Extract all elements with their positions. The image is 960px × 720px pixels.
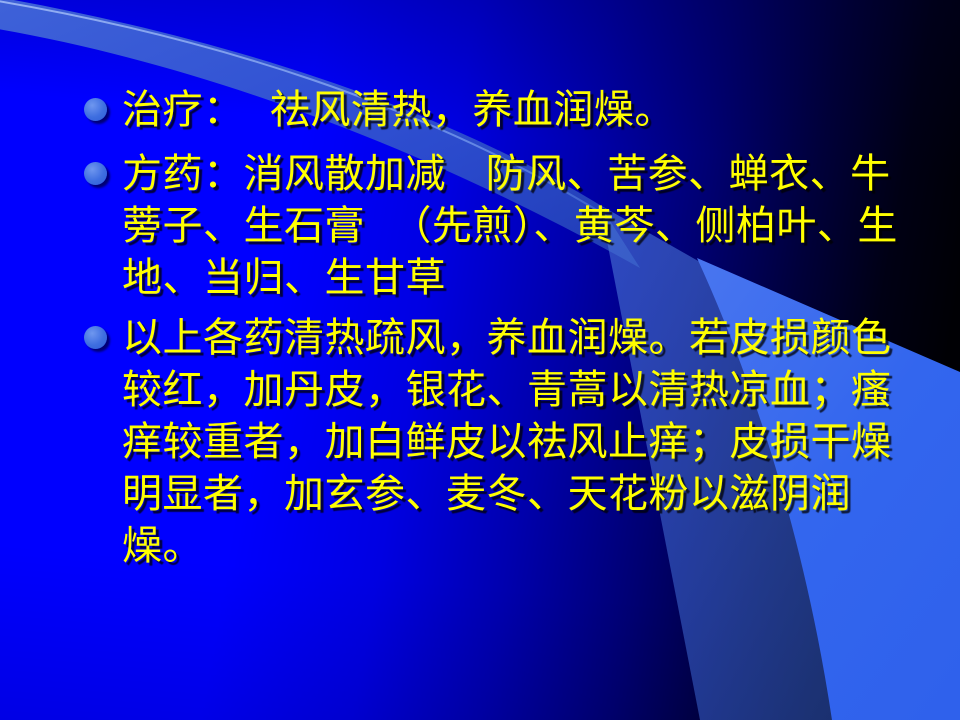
bullet-item-2: 方药：消风散加减 防风、苦参、蝉衣、牛蒡子、生石膏 （先煎）、黄芩、侧柏叶、生地… (84, 148, 914, 304)
bullet-text-2: 方药：消风散加减 防风、苦参、蝉衣、牛蒡子、生石膏 （先煎）、黄芩、侧柏叶、生地… (122, 148, 914, 304)
disc-bullet-icon (84, 162, 107, 185)
slide-canvas: 治疗： 祛风清热，养血润燥。 方药：消风散加减 防风、苦参、蝉衣、牛蒡子、生石膏… (0, 0, 960, 720)
bullet-item-3: 以上各药清热疏风，养血润燥。若皮损颜色较红，加丹皮，银花、青蒿以清热凉血；瘙痒较… (84, 312, 914, 572)
disc-bullet-icon (84, 326, 107, 349)
bullet-item-1: 治疗： 祛风清热，养血润燥。 (84, 84, 914, 136)
bullet-text-3: 以上各药清热疏风，养血润燥。若皮损颜色较红，加丹皮，银花、青蒿以清热凉血；瘙痒较… (122, 312, 914, 572)
slide-content: 治疗： 祛风清热，养血润燥。 方药：消风散加减 防风、苦参、蝉衣、牛蒡子、生石膏… (0, 0, 960, 720)
disc-bullet-icon (84, 98, 107, 121)
bullet-text-1: 治疗： 祛风清热，养血润燥。 (122, 84, 914, 136)
